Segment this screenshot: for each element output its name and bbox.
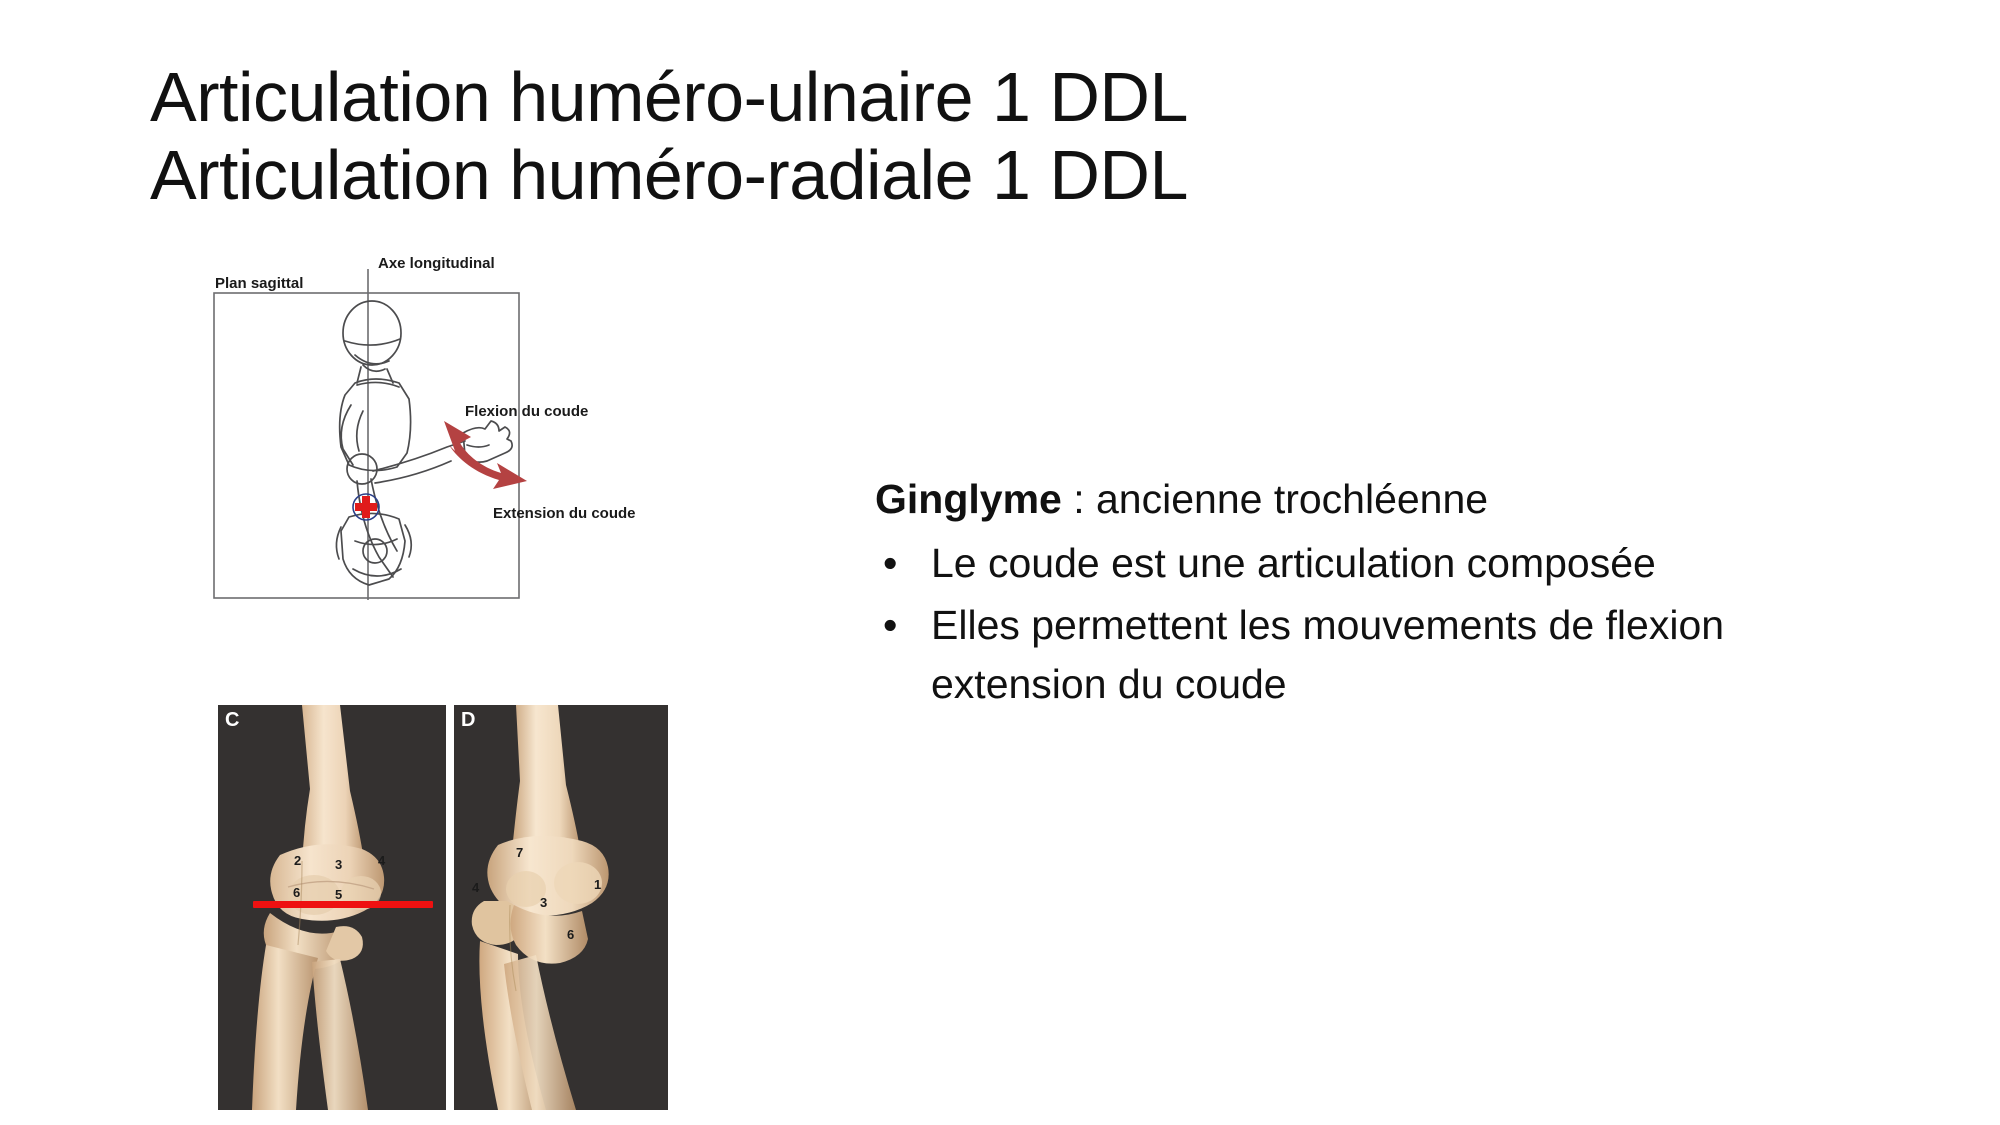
bone-panel-d: D 7 4 3 1 6 (454, 705, 668, 1110)
bone-panel-d-svg (454, 705, 668, 1110)
list-item: • Le coude est une articulation composée (875, 534, 1875, 592)
content-text-block: Ginglyme : ancienne trochléenne • Le cou… (875, 470, 1875, 717)
red-axis-marker-line (253, 901, 433, 908)
panel-c-number-4: 4 (378, 853, 385, 868)
panel-c-number-2: 2 (294, 853, 301, 868)
bullet-list: • Le coude est une articulation composée… (875, 534, 1875, 713)
lead-line: Ginglyme : ancienne trochléenne (875, 470, 1875, 528)
title-line-1: Articulation huméro-ulnaire 1 DDL (150, 58, 1650, 136)
list-item: • Elles permettent les mouvements de fle… (875, 596, 1875, 712)
lead-rest: : ancienne trochléenne (1062, 476, 1488, 522)
sagittal-plane-figure: Plan sagittal Axe longitudinal Flexion d… (205, 255, 645, 700)
axe-longitudinal-label: Axe longitudinal (378, 255, 495, 272)
sagittal-plane-rect (214, 293, 519, 598)
panel-d-number-3: 3 (540, 895, 547, 910)
elbow-bone-photographs: C 2 3 4 6 5 (218, 705, 668, 1110)
panel-d-number-4: 4 (472, 880, 479, 895)
elbow-marker-cross (353, 494, 379, 520)
body-sketch (336, 301, 512, 585)
plan-sagittal-label: Plan sagittal (215, 275, 303, 292)
bullet-icon: • (883, 534, 897, 592)
list-item-label: Le coude est une articulation composée (931, 540, 1656, 586)
panel-d-letter: D (461, 709, 475, 732)
panel-d-number-6: 6 (567, 927, 574, 942)
bullet-icon: • (883, 596, 897, 654)
title-line-2: Articulation huméro-radiale 1 DDL (150, 136, 1650, 214)
term-ginglyme: Ginglyme (875, 476, 1062, 522)
sagittal-diagram-svg (205, 255, 645, 700)
panel-d-number-7: 7 (516, 845, 523, 860)
panel-c-number-6: 6 (293, 885, 300, 900)
panel-d-number-1: 1 (594, 877, 601, 892)
panel-c-letter: C (225, 709, 239, 732)
flexion-arrow (444, 421, 527, 489)
page-title: Articulation huméro-ulnaire 1 DDL Articu… (150, 58, 1650, 215)
panel-c-number-5: 5 (335, 887, 342, 902)
extension-du-coude-label: Extension du coude (493, 505, 636, 522)
bone-panel-c: C 2 3 4 6 5 (218, 705, 446, 1110)
list-item-label: Elles permettent les mouvements de flexi… (931, 602, 1724, 706)
flexion-du-coude-label: Flexion du coude (465, 403, 588, 420)
panel-c-number-3: 3 (335, 857, 342, 872)
